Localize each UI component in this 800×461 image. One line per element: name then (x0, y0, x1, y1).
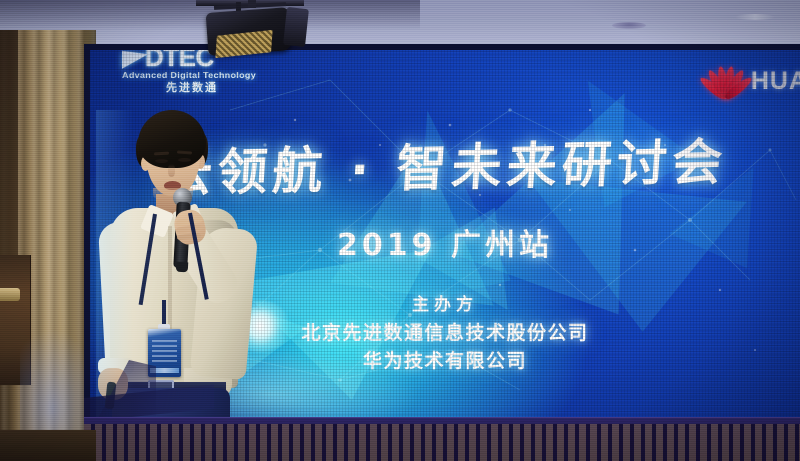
ceiling-vent-secondary-icon (735, 14, 775, 20)
lanyard-strap-center (162, 300, 166, 326)
ceiling-vent-icon (612, 22, 646, 29)
stage-slats (84, 424, 800, 461)
brass-fixture-icon (0, 288, 20, 301)
fixture-clamp-icon (248, 0, 256, 8)
stage-left-base (0, 430, 96, 461)
speaker-eye-left (155, 159, 168, 163)
conference-stage-photo: DTEC Advanced Digital Technology 先进数通 HU… (0, 0, 800, 461)
badge-text-lines (152, 340, 177, 362)
speaker-nose (168, 164, 175, 177)
fixture-side-arm (283, 7, 309, 47)
speaker-eye-right (178, 158, 191, 162)
speaker-hair (138, 110, 206, 168)
wall-dark-edge (0, 30, 18, 260)
microphone-tip (176, 262, 189, 273)
